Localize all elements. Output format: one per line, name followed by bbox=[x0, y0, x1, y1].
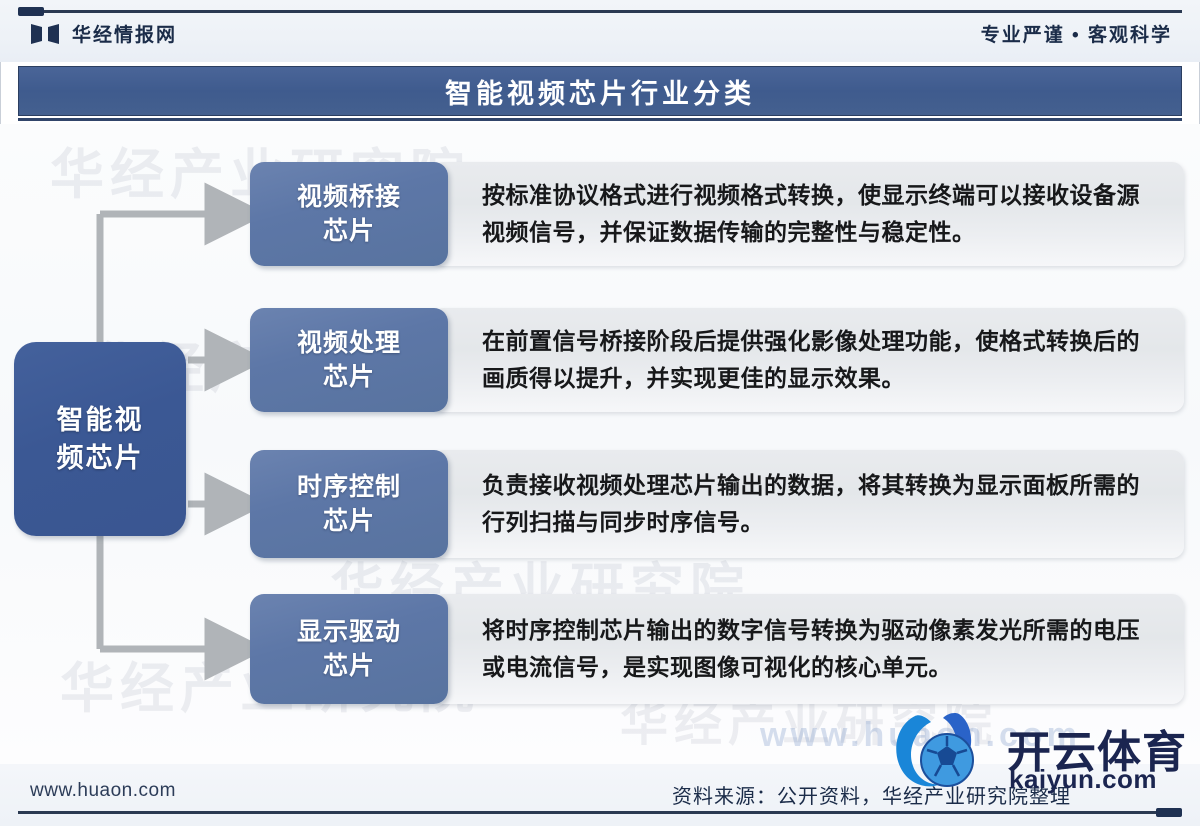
category-label-line-2: 芯片 bbox=[323, 360, 375, 395]
description-panel: 负责接收视频处理芯片输出的数据，将其转换为显示面板所需的行列扫描与同步时序信号。 bbox=[432, 450, 1184, 558]
diagram-row: 时序控制 芯片 负责接收视频处理芯片输出的数据，将其转换为显示面板所需的行列扫描… bbox=[250, 450, 1184, 558]
footer-source-note: 资料来源：公开资料，华经产业研究院整理 bbox=[672, 780, 1071, 809]
category-box-display-driver-chip[interactable]: 显示驱动 芯片 bbox=[250, 594, 448, 704]
diagram-row: 显示驱动 芯片 将时序控制芯片输出的数字信号转换为驱动像素发光所需的电压或电流信… bbox=[250, 594, 1184, 704]
diagram-canvas: 华经产业研究院 华经产业研究院 华经产业研究院 华经产业研究院 华经产业研究院 bbox=[0, 124, 1200, 764]
description-panel: 在前置信号桥接阶段后提供强化影像处理功能，使格式转换后的画质得以提升，并实现更佳… bbox=[432, 308, 1184, 412]
footer-divider-cap bbox=[1156, 808, 1182, 817]
page-title: 智能视频芯片行业分类 bbox=[445, 72, 755, 111]
category-box-timing-control-chip[interactable]: 时序控制 芯片 bbox=[250, 450, 448, 558]
category-label-line-1: 视频处理 bbox=[297, 326, 401, 361]
description-text: 在前置信号桥接阶段后提供强化影像处理功能，使格式转换后的画质得以提升，并实现更佳… bbox=[482, 323, 1160, 398]
description-text: 按标准协议格式进行视频格式转换，使显示终端可以接收设备源视频信号，并保证数据传输… bbox=[482, 177, 1160, 252]
header-tagline: 专业严谨 • 客观科学 bbox=[981, 20, 1172, 47]
title-bar: 智能视频芯片行业分类 bbox=[18, 66, 1182, 116]
category-label-line-2: 芯片 bbox=[323, 504, 375, 539]
root-node-line-1: 智能视 bbox=[57, 401, 144, 439]
header-divider-cap bbox=[18, 7, 44, 16]
category-box-video-processing-chip[interactable]: 视频处理 芯片 bbox=[250, 308, 448, 412]
diagram-row: 视频处理 芯片 在前置信号桥接阶段后提供强化影像处理功能，使格式转换后的画质得以… bbox=[250, 308, 1184, 412]
infographic-page: 华经情报网 专业严谨 • 客观科学 智能视频芯片行业分类 华经产业研究院 华经产… bbox=[0, 0, 1200, 826]
footer-divider-line bbox=[18, 811, 1182, 814]
category-label-line-1: 显示驱动 bbox=[297, 615, 401, 650]
brand-block: 华经情报网 bbox=[30, 20, 177, 47]
header-divider-line bbox=[18, 10, 1182, 13]
root-node-line-2: 频芯片 bbox=[57, 439, 144, 477]
category-box-video-bridge-chip[interactable]: 视频桥接 芯片 bbox=[250, 162, 448, 266]
page-footer: www.huaon.com 资料来源：公开资料，华经产业研究院整理 bbox=[0, 764, 1200, 826]
category-label-line-2: 芯片 bbox=[323, 649, 375, 684]
description-text: 负责接收视频处理芯片输出的数据，将其转换为显示面板所需的行列扫描与同步时序信号。 bbox=[482, 467, 1160, 542]
category-label-line-1: 时序控制 bbox=[297, 470, 401, 505]
description-panel: 将时序控制芯片输出的数字信号转换为驱动像素发光所需的电压或电流信号，是实现图像可… bbox=[432, 594, 1184, 704]
description-panel: 按标准协议格式进行视频格式转换，使显示终端可以接收设备源视频信号，并保证数据传输… bbox=[432, 162, 1184, 266]
root-node-smart-video-chip[interactable]: 智能视 频芯片 bbox=[14, 342, 186, 536]
huajing-logo-icon bbox=[30, 22, 60, 46]
category-label-line-1: 视频桥接 bbox=[297, 180, 401, 215]
description-text: 将时序控制芯片输出的数字信号转换为驱动像素发光所需的电压或电流信号，是实现图像可… bbox=[482, 612, 1160, 687]
diagram-row: 视频桥接 芯片 按标准协议格式进行视频格式转换，使显示终端可以接收设备源视频信号… bbox=[250, 162, 1184, 266]
brand-name: 华经情报网 bbox=[72, 20, 177, 47]
footer-website-url[interactable]: www.huaon.com bbox=[30, 780, 176, 802]
page-header: 华经情报网 专业严谨 • 客观科学 bbox=[0, 0, 1200, 62]
category-label-line-2: 芯片 bbox=[323, 214, 375, 249]
title-underline bbox=[18, 118, 1182, 121]
